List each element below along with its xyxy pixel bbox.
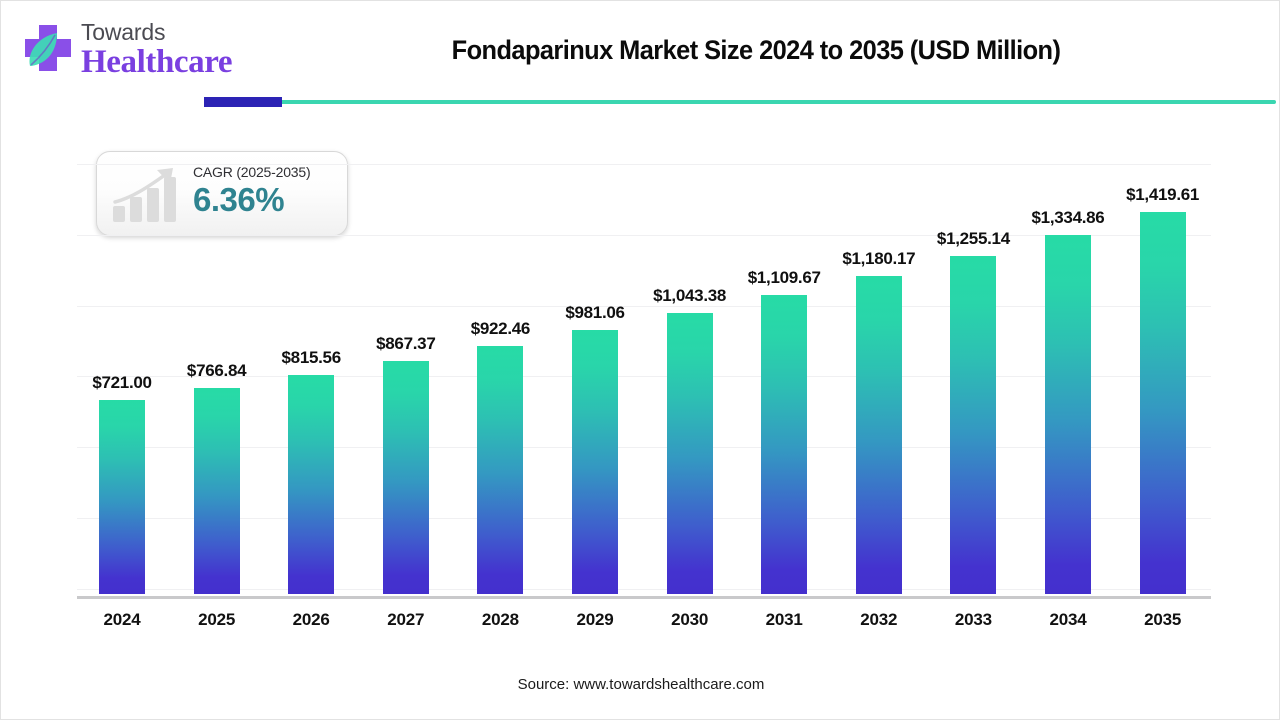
bar[interactable] [1140, 212, 1186, 594]
bar-value-label: $1,180.17 [842, 249, 915, 269]
bar-group[interactable]: $1,043.38 [667, 313, 713, 594]
bar[interactable] [856, 276, 902, 594]
bar-value-label: $922.46 [471, 319, 530, 339]
x-axis-label: 2032 [829, 610, 929, 630]
bar-value-label: $1,419.61 [1126, 185, 1199, 205]
bar-value-label: $981.06 [565, 303, 624, 323]
bar-value-label: $1,109.67 [748, 268, 821, 288]
x-axis-label: 2028 [450, 610, 550, 630]
gridline [77, 376, 1211, 377]
x-axis-label: 2031 [734, 610, 834, 630]
bar[interactable] [1045, 235, 1091, 594]
x-axis-line [77, 596, 1211, 599]
bar-group[interactable]: $1,255.14 [950, 256, 996, 594]
x-axis-label: 2027 [356, 610, 456, 630]
gridline [77, 447, 1211, 448]
x-axis-label: 2030 [640, 610, 740, 630]
gridline [77, 306, 1211, 307]
brand-word-healthcare: Healthcare [81, 45, 251, 79]
bar-group[interactable]: $1,334.86 [1045, 235, 1091, 594]
brand-wordmark: Towards Healthcare [81, 19, 251, 79]
bar-value-label: $1,334.86 [1032, 208, 1105, 228]
chart-canvas: Towards Healthcare Fondaparinux Market S… [0, 0, 1280, 720]
bar-value-label: $721.00 [92, 373, 151, 393]
x-axis-label: 2035 [1113, 610, 1213, 630]
bar-group[interactable]: $1,419.61 [1140, 212, 1186, 594]
bar[interactable] [477, 346, 523, 594]
bar[interactable] [194, 388, 240, 594]
bar-group[interactable]: $721.00 [99, 400, 145, 594]
divider-indigo-block [204, 97, 282, 107]
title-divider [204, 97, 1276, 107]
x-axis-label: 2025 [167, 610, 267, 630]
gridline [77, 235, 1211, 236]
x-axis-label: 2029 [545, 610, 645, 630]
gridline [77, 518, 1211, 519]
bar-group[interactable]: $815.56 [288, 375, 334, 594]
bar[interactable] [950, 256, 996, 594]
gridline [77, 164, 1211, 165]
bar[interactable] [572, 330, 618, 594]
bar-value-label: $867.37 [376, 334, 435, 354]
bar-group[interactable]: $1,180.17 [856, 276, 902, 594]
x-axis-label: 2034 [1018, 610, 1118, 630]
x-axis-label: 2026 [261, 610, 361, 630]
bar-value-label: $766.84 [187, 361, 246, 381]
bar-group[interactable]: $766.84 [194, 388, 240, 594]
bar[interactable] [288, 375, 334, 594]
bar-group[interactable]: $981.06 [572, 330, 618, 594]
bar[interactable] [383, 361, 429, 594]
bar[interactable] [761, 295, 807, 594]
bar-value-label: $1,255.14 [937, 229, 1010, 249]
bar-value-label: $815.56 [282, 348, 341, 368]
x-axis-label: 2024 [72, 610, 172, 630]
bar-group[interactable]: $867.37 [383, 361, 429, 594]
bar[interactable] [99, 400, 145, 594]
bar[interactable] [667, 313, 713, 594]
page-title: Fondaparinux Market Size 2024 to 2035 (U… [291, 35, 1222, 66]
bar-value-label: $1,043.38 [653, 286, 726, 306]
source-caption: Source: www.towardshealthcare.com [1, 676, 1280, 693]
bar-group[interactable]: $922.46 [477, 346, 523, 594]
brand-word-towards: Towards [81, 19, 251, 45]
divider-teal-line [276, 100, 1276, 104]
x-axis-label: 2033 [923, 610, 1023, 630]
bar-group[interactable]: $1,109.67 [761, 295, 807, 594]
brand-logo: Towards Healthcare [17, 17, 247, 89]
medical-cross-leaf-icon [17, 21, 79, 83]
gridline [77, 589, 1211, 590]
